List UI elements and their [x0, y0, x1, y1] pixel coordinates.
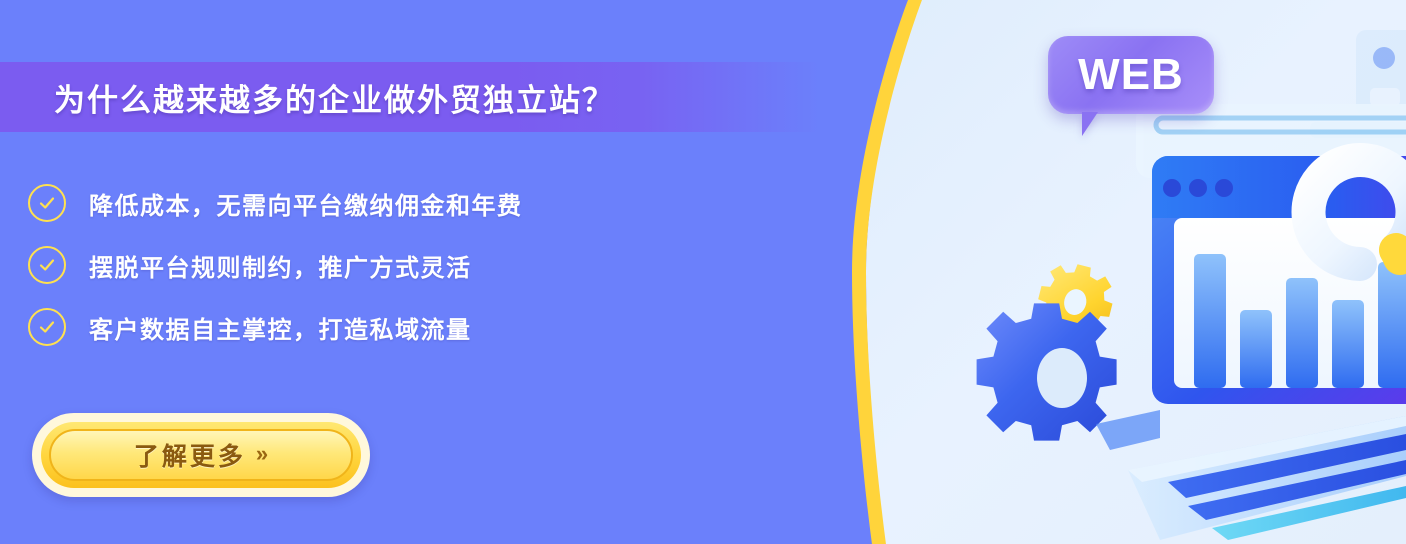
title-band: 为什么越来越多的企业做外贸独立站？	[0, 62, 820, 132]
cta-ring: 了解更多 »	[41, 422, 361, 488]
page-title: 为什么越来越多的企业做外贸独立站？	[54, 75, 615, 120]
check-circle-icon	[28, 308, 66, 346]
list-item-label: 客户数据自主掌控，打造私域流量	[89, 310, 472, 345]
learn-more-button[interactable]: 了解更多 »	[32, 413, 370, 497]
check-circle-icon	[28, 184, 66, 222]
list-item: 摆脱平台规则制约，推广方式灵活	[28, 234, 523, 296]
list-item-label: 降低成本，无需向平台缴纳佣金和年费	[89, 186, 523, 221]
cta-label: 了解更多	[134, 437, 246, 473]
chevron-right-icon: »	[256, 443, 268, 465]
benefit-list: 降低成本，无需向平台缴纳佣金和年费 摆脱平台规则制约，推广方式灵活 客户数据自主…	[28, 172, 523, 358]
web-speech-bubble: WEB	[1048, 36, 1214, 114]
check-circle-icon	[28, 246, 66, 284]
bubble-tail-icon	[1082, 112, 1110, 136]
promo-banner: WEB 为什么越来越多的企业做外贸独立站？ 降低成本，无需向平台缴纳佣金和年费 …	[0, 0, 1406, 544]
cta-inner: 了解更多 »	[49, 429, 353, 481]
list-item: 降低成本，无需向平台缴纳佣金和年费	[28, 172, 523, 234]
list-item: 客户数据自主掌控，打造私域流量	[28, 296, 523, 358]
list-item-label: 摆脱平台规则制约，推广方式灵活	[89, 248, 472, 283]
web-bubble-label: WEB	[1078, 50, 1184, 100]
